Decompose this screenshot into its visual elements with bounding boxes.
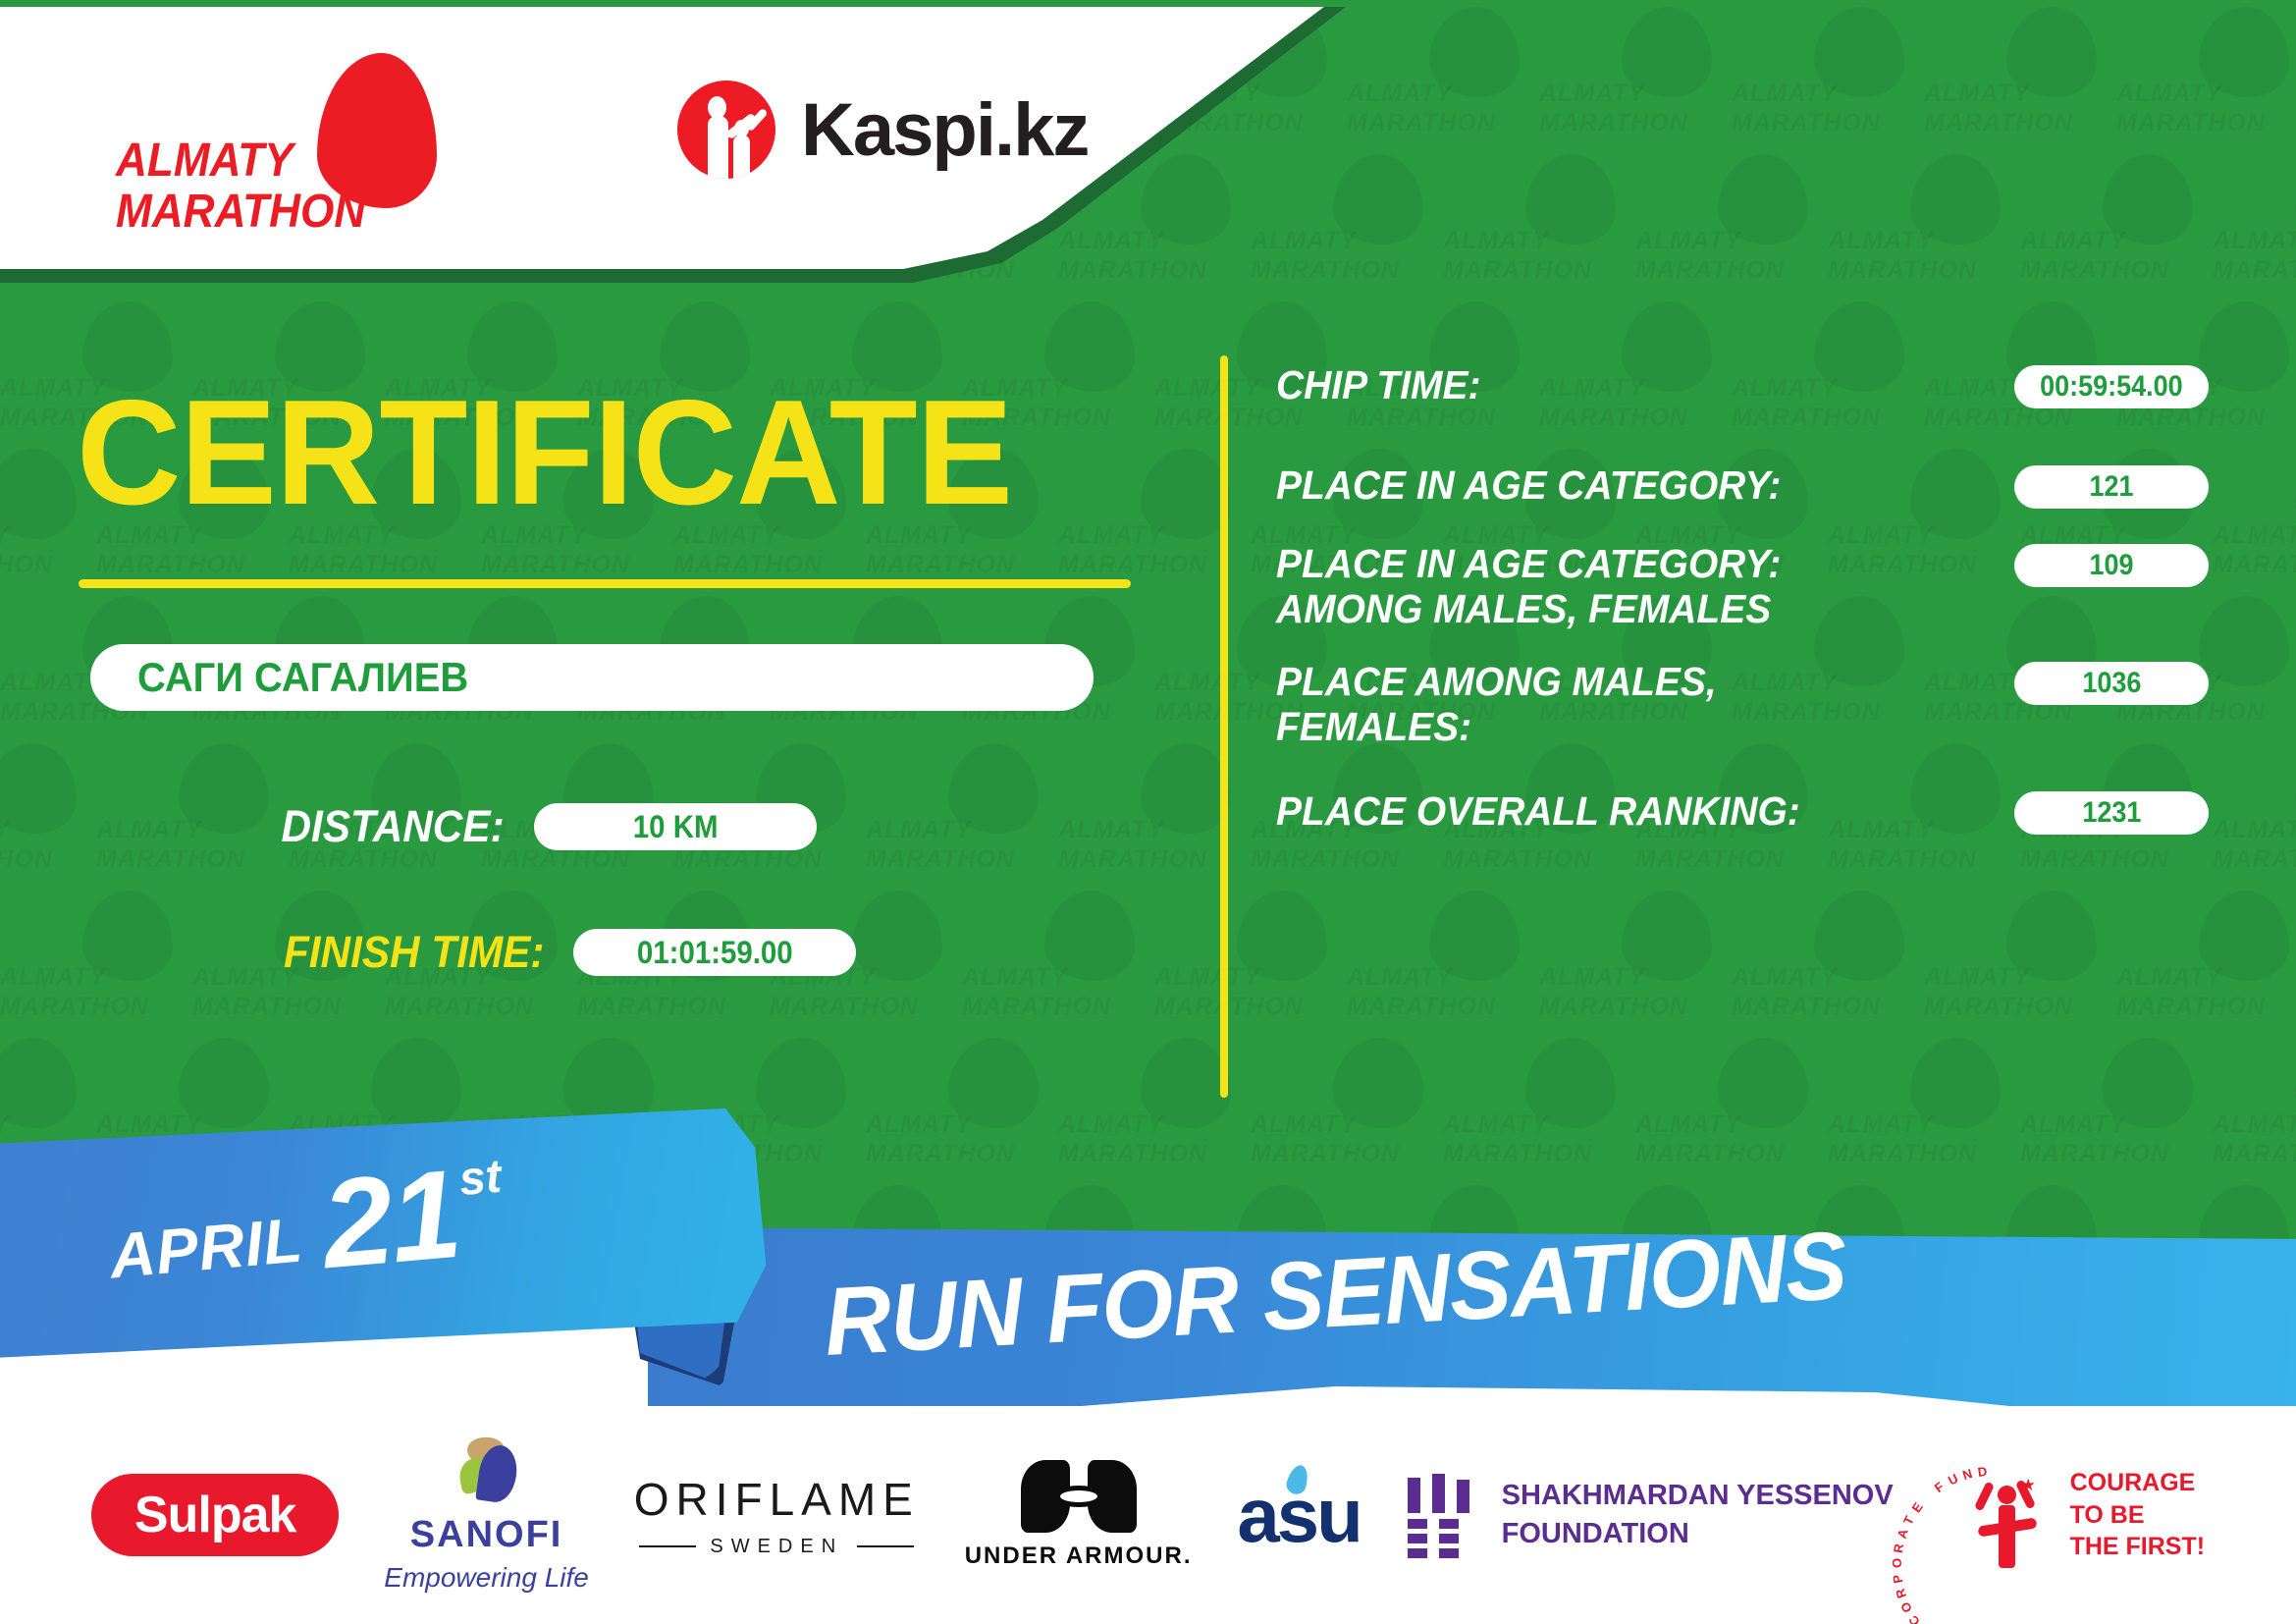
courage-line2: TO BE [2070,1499,2206,1532]
watermark-tile: ALMATYMARATHON [1924,891,2116,1038]
arc-letter: O [1897,1599,1915,1615]
watermark-tile: ALMATYMARATHON [866,743,1058,891]
watermark-tile: ALMATYMARATHON [2116,891,2296,1038]
finish-time-value-pill: 01:01:59.00 [573,929,856,976]
page-title: CERTIFICATE [77,378,1012,527]
watermark-tile: ALMATYMARATHON [1924,7,2116,154]
watermark-tile: ALMATYMARATHON [0,743,96,891]
kaspi-wordmark: Kaspi.kz [801,87,1088,173]
arc-letter: U [1946,1471,1960,1489]
under-armour-icon [1021,1460,1137,1533]
watermark-tile: ALMATYMARATHON [962,891,1154,1038]
event-day-ordinal: st [457,1150,504,1208]
sanofi-tagline: Empowering Life [384,1562,589,1594]
arc-letter: F [1931,1479,1946,1495]
finish-time-row: FINISH TIME: 01:01:59.00 [267,927,856,978]
arc-letter: A [1894,1527,1910,1540]
stat-value: 1231 [2082,796,2141,830]
arc-letter: R [1892,1587,1908,1600]
watermark-tile: ALMATYMARATHON [96,743,289,891]
oriflame-rule-left [639,1545,696,1547]
watermark-tile: ALMATYMARATHON [1251,154,1443,301]
stat-value: 109 [2089,549,2133,582]
yessenov-line2: FOUNDATION [1502,1515,1894,1553]
vertical-divider [1220,355,1228,1098]
watermark-tile: ALMATYMARATHON [1154,891,1347,1038]
stat-row: PLACE OVERALL RANKING: 1231 [1276,789,2209,835]
arc-letter: O [1889,1558,1903,1568]
title-underline [79,579,1131,588]
arc-letter: N [1960,1466,1973,1483]
watermark-tile: ALMATYMARATHON [2213,743,2296,891]
stats-list: CHIP TIME: 00:59:54.00 PLACE IN AGE CATE… [1276,363,2209,840]
yessenov-mark-icon [1406,1474,1476,1556]
stat-label: PLACE AMONG MALES, FEMALES: [1276,660,1892,750]
watermark-tile: ALMATYMARATHON [2213,154,2296,301]
arc-letter: C [1905,1612,1923,1624]
event-month: APRIL [107,1204,306,1293]
event-day: 21 [318,1160,463,1281]
sponsor-logo-sulpak: Sulpak [91,1474,340,1556]
arc-letter: R [1891,1543,1906,1553]
kaspi-logo: Kaspi.kz [677,61,1090,198]
almaty-marathon-logo: ALMATY MARATHON [116,51,430,208]
stat-value-pill: 1036 [2014,662,2209,705]
stat-row: PLACE IN AGE CATEGORY: AMONG MALES, FEMA… [1276,542,2209,632]
stat-value-pill: 121 [2014,465,2209,509]
stat-value-pill: 00:59:54.00 [2014,365,2209,408]
watermark-tile: ALMATYMARATHON [1347,7,1539,154]
watermark-tile: ALMATYMARATHON [1539,891,1732,1038]
arc-letter: T [1899,1514,1916,1528]
arc-letter: P [1890,1574,1905,1585]
distance-label: DISTANCE: [281,801,504,852]
stat-row: CHIP TIME: 00:59:54.00 [1276,363,2209,408]
courage-line1: COURAGE [2070,1467,2206,1499]
sulpak-wordmark: Sulpak [134,1486,296,1544]
participant-name-value: САГИ САГАЛИЕВ [137,654,468,701]
oriflame-tagline: SWEDEN [710,1536,843,1558]
kaspi-family-icon [677,81,775,179]
stat-label: PLACE OVERALL RANKING: [1276,789,1800,835]
distance-row: DISTANCE: 10 KM [267,801,817,852]
watermark-tile: ALMATYMARATHON [1443,154,1635,301]
courage-fund-icon: CORPORATE FUND ★ [1939,1458,2056,1572]
sponsor-logo-courage-fund: CORPORATE FUND ★ COURAGE TO BE THE FIRST… [1939,1458,2206,1572]
top-green-strip [0,0,2296,7]
watermark-tile: ALMATYMARATHON [2116,7,2296,154]
oriflame-wordmark: ORIFLAME [634,1473,920,1526]
sponsor-logo-under-armour: UNDER ARMOUR. [965,1460,1193,1570]
sanofi-wordmark: SANOFI [410,1514,563,1556]
stat-value: 1036 [2082,667,2141,700]
distance-value-pill: 10 KM [534,803,817,850]
finish-time-label: FINISH TIME: [284,927,545,978]
courage-figure-icon: ★ [1980,1476,2033,1568]
watermark-tile: ALMATYMARATHON [1732,7,1924,154]
sanofi-mark-icon [450,1437,524,1506]
stat-value: 121 [2089,470,2133,504]
watermark-tile: ALMATYMARATHON [2020,154,2213,301]
stat-label: PLACE IN AGE CATEGORY: [1276,463,1781,509]
stat-label: PLACE IN AGE CATEGORY: AMONG MALES, FEMA… [1276,542,1892,632]
oriflame-rule-right [857,1545,914,1547]
sponsor-logo-asu: asu [1237,1471,1360,1560]
oriflame-sub: SWEDEN [639,1536,914,1558]
stat-value-pill: 1231 [2014,791,2209,835]
watermark-tile: ALMATYMARATHON [1539,7,1732,154]
watermark-tile: ALMATYMARATHON [2213,449,2296,596]
runner-icon [535,90,625,185]
distance-value: 10 KM [632,809,718,845]
arc-letter: E [1908,1499,1925,1515]
almaty-logo-line2: MARATHON [116,185,365,239]
sponsor-logo-yessenov: SHAKHMARDAN YESSENOV FOUNDATION [1406,1474,1894,1556]
watermark-tile: ALMATYMARATHON [1347,891,1539,1038]
stat-row: PLACE IN AGE CATEGORY: 121 [1276,463,2209,509]
sponsor-logo-oriflame: ORIFLAME SWEDEN [634,1473,920,1558]
stat-value-pill: 109 [2014,544,2209,587]
sponsor-strip: Sulpak SANOFI Empowering Life ORIFLAME S… [0,1406,2296,1624]
finish-time-value: 01:01:59.00 [637,935,793,971]
yessenov-line1: SHAKHMARDAN YESSENOV [1502,1477,1894,1515]
certificate-page: ALMATYMARATHONALMATYMARATHONALMATYMARATH… [0,0,2296,1624]
yessenov-wordmark: SHAKHMARDAN YESSENOV FOUNDATION [1502,1477,1894,1553]
watermark-tile: ALMATYMARATHON [1732,891,1924,1038]
stat-row: PLACE AMONG MALES, FEMALES: 1036 [1276,660,2209,750]
stat-value: 00:59:54.00 [2040,370,2183,404]
watermark-tile: ALMATYMARATHON [1635,154,1828,301]
almaty-logo-line1: ALMATY [116,134,294,188]
participant-name-field: САГИ САГАЛИЕВ [90,644,1094,711]
watermark-tile: ALMATYMARATHON [0,891,192,1038]
courage-line3: THE FIRST! [2070,1531,2206,1563]
sponsor-logo-sanofi: SANOFI Empowering Life [384,1437,589,1594]
courage-fund-wordmark: COURAGE TO BE THE FIRST! [2070,1467,2206,1563]
under-armour-wordmark: UNDER ARMOUR. [965,1543,1193,1570]
watermark-tile: ALMATYMARATHON [1828,154,2020,301]
stat-label: CHIP TIME: [1276,363,1480,408]
